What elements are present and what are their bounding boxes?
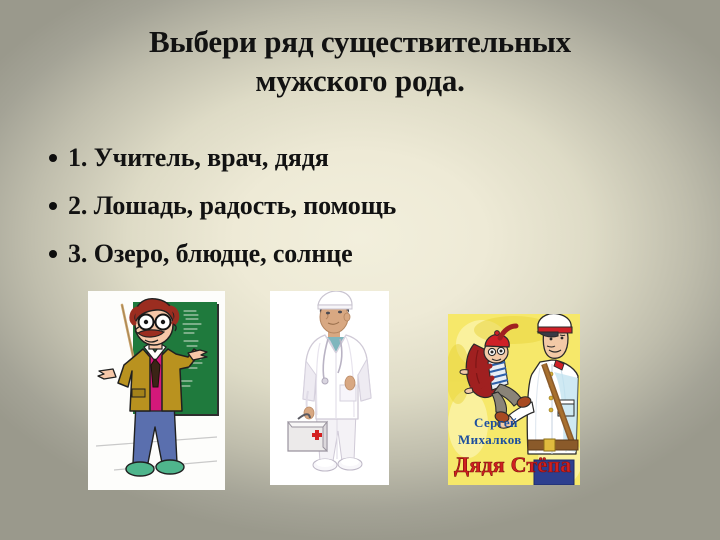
- image-teacher: [88, 291, 225, 490]
- illustration-row: Сергей Михалков Дядя Стёпа: [0, 0, 720, 540]
- book-author-line-2: Михалков: [458, 432, 522, 447]
- slide-canvas: Выбери ряд существительных мужского рода…: [0, 0, 720, 540]
- doctor-illustration: [270, 291, 389, 485]
- book-title-text: Дядя Стёпа: [454, 452, 571, 477]
- image-doctor: [270, 291, 389, 485]
- book-author-line-1: Сергей: [474, 415, 518, 430]
- image-book-cover: Сергей Михалков Дядя Стёпа: [448, 314, 580, 485]
- teacher-illustration: [88, 291, 225, 490]
- book-cover-illustration: Сергей Михалков Дядя Стёпа: [448, 314, 580, 485]
